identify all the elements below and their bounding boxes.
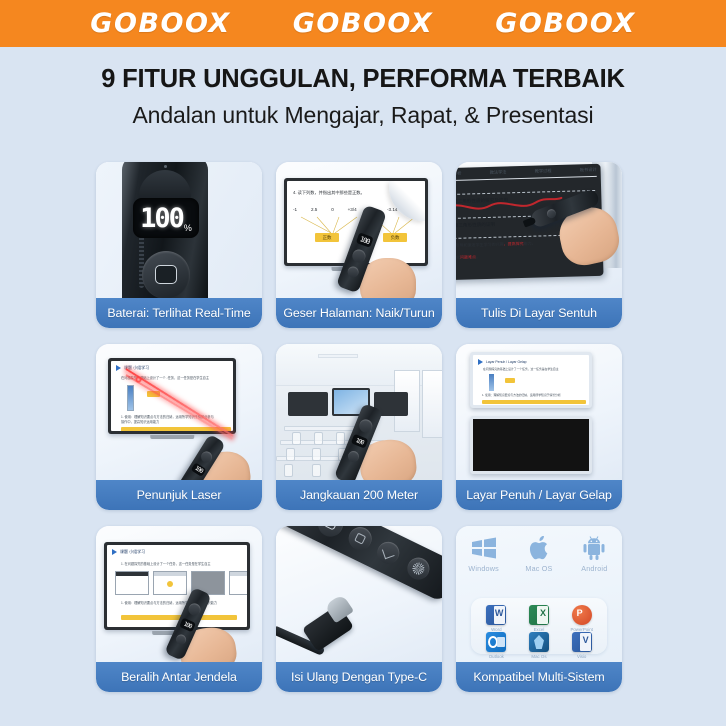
device-button-up (351, 248, 368, 265)
device-display: 100 (351, 434, 369, 449)
battery-illustration: 100 % (96, 162, 262, 298)
battery-value: 100 (140, 205, 183, 232)
battery-display: 100 % (133, 198, 199, 238)
slide-header: 课题 小组学习 (116, 365, 149, 371)
macos-app-icon (529, 632, 549, 652)
device-button-up (187, 601, 203, 617)
device-button-2 (345, 526, 376, 554)
tag-positive: 正数 (315, 233, 339, 242)
play-icon (112, 549, 117, 555)
window-thumb-4[interactable] (229, 571, 247, 595)
os-macos-label: Mac OS (515, 564, 563, 573)
play-icon (116, 365, 121, 371)
app-word[interactable]: W Word (475, 605, 518, 632)
presenter-body: 100 % (122, 162, 208, 298)
mic-dot (164, 165, 167, 168)
tv-display-on: Layar Penuh / Layar Gelap 在问题探究的基础上设计了一个… (470, 352, 592, 408)
excel-icon: X (529, 605, 549, 625)
play-icon (478, 359, 483, 365)
hand (360, 258, 416, 298)
brand-logo-2: GOBOOX (293, 8, 433, 39)
touch-write-illustration: 教材分析 教法学法 教学过程 板书设计 点 等腰三角形性质的探究及应用 (456, 162, 622, 298)
tv-screen-on: Layar Penuh / Layar Gelap 在问题探究的基础上设计了一个… (473, 355, 589, 405)
app-compatibility-panel: W Word X Excel P (471, 598, 607, 654)
device-button-down (346, 449, 360, 463)
caption-multi-system: Kompatibel Multi-Sistem (456, 662, 622, 692)
app-visio[interactable]: V Visio (560, 632, 603, 659)
blank-screen-illustration: Layar Penuh / Layar Gelap 在问题探究的基础上设计了一个… (456, 344, 622, 480)
feature-card-battery[interactable]: 100 % Baterai: Terlihat Real-Time (96, 162, 262, 328)
slide-title: 课题 小组学习 (120, 549, 145, 555)
os-android-label: Android (570, 564, 618, 573)
tv-display-off (470, 416, 592, 474)
os-logo-row: Windows Mac OS (456, 536, 622, 573)
presenter-device-closeup: 100 (276, 526, 442, 603)
feature-card-page-turn[interactable]: 4. 读下列数，并指出其中那些是正数。 -1 2.5 0 +3/4 2 -3.1… (276, 162, 442, 328)
device-button-main (314, 526, 347, 541)
caption-battery: Baterai: Terlihat Real-Time (96, 298, 262, 328)
feature-grid: 100 % Baterai: Terlihat Real-Time 4. 读下列… (96, 162, 642, 692)
multi-system-illustration: Windows Mac OS (456, 526, 622, 662)
brand-bar: GOBOOX GOBOOX GOBOOX (0, 0, 726, 47)
feature-card-type-c[interactable]: 100 Isi Ula (276, 526, 442, 692)
visio-icon: V (572, 632, 592, 652)
outlook-label: Outlook (475, 654, 518, 659)
caption-blank-screen: Layar Penuh / Layar Gelap (456, 480, 622, 510)
page-turn-illustration: 4. 读下列数，并指出其中那些是正数。 -1 2.5 0 +3/4 2 -3.1… (276, 162, 442, 298)
caption-page-turn: Geser Halaman: Naik/Turun (276, 298, 442, 328)
windows-icon (471, 536, 497, 560)
main-button-square (155, 265, 177, 284)
app-powerpoint[interactable]: P PowerPoint (560, 605, 603, 632)
tv-screen: 课题 小组学习 1. 在问题探究的基础上设计了一个任务，这一任务是在学生自主 (107, 545, 247, 627)
caption-touch-write: Tulis Di Layar Sentuh (456, 298, 622, 328)
feature-card-multi-system[interactable]: Windows Mac OS (456, 526, 622, 692)
os-windows-label: Windows (460, 564, 508, 573)
window-thumb-1[interactable] (115, 571, 149, 595)
app-macos[interactable]: Mac Os (518, 632, 561, 659)
page-subtitle: Andalan untuk Mengajar, Rapat, & Present… (0, 102, 726, 129)
main-button-ring (142, 251, 190, 298)
window-thumb-2[interactable] (153, 571, 187, 595)
caption-range: Jangkauan 200 Meter (276, 480, 442, 510)
device-button-up (357, 417, 374, 434)
type-c-illustration: 100 (276, 526, 442, 662)
brand-logo-1: GOBOOX (90, 8, 230, 39)
tv-display: 课题 小组学习 1. 在问题探究的基础上设计了一个任务，这一任务是在学生自主 (104, 542, 250, 630)
app-excel[interactable]: X Excel (518, 605, 561, 632)
slide-title: Layar Penuh / Layar Gelap (486, 360, 527, 364)
headline-block: 9 FITUR UNGGULAN, PERFORMA TERBAIK Andal… (0, 47, 726, 129)
macos-app-label: Mac Os (518, 654, 561, 659)
feature-card-window-switch[interactable]: 课题 小组学习 1. 在问题探究的基础上设计了一个任务，这一任务是在学生自主 (96, 526, 262, 692)
device-display: 100 (191, 462, 207, 477)
promo-page: GOBOOX GOBOOX GOBOOX 9 FITUR UNGGULAN, P… (0, 0, 726, 726)
device-button (199, 449, 214, 464)
feature-card-blank-screen[interactable]: Layar Penuh / Layar Gelap 在问题探究的基础上设计了一个… (456, 344, 622, 510)
os-macos: Mac OS (515, 536, 563, 573)
os-android: Android (570, 536, 618, 573)
app-outlook[interactable]: Outlook (475, 632, 518, 659)
whiteboard-screen: 教材分析 教法学法 教学过程 板书设计 点 等腰三角形性质的探究及应用 (456, 168, 597, 172)
visio-label: Visio (560, 654, 603, 659)
caption-laser: Penunjuk Laser (96, 480, 262, 510)
word-icon: W (486, 605, 506, 625)
outlook-icon (486, 632, 506, 652)
feature-card-laser[interactable]: 课题 小组学习 在问题探究的基础上设计了一个 -任务，这一任务是在学生自主 1.… (96, 344, 262, 510)
brand-logo-3: GOBOOX (495, 8, 635, 39)
powerpoint-icon: P (572, 605, 592, 625)
feature-card-range[interactable]: 100 Jangkauan 200 Meter (276, 344, 442, 510)
caption-type-c: Isi Ulang Dengan Type-C (276, 662, 442, 692)
page-title: 9 FITUR UNGGULAN, PERFORMA TERBAIK (0, 65, 726, 93)
device-display: 100 (179, 617, 196, 632)
device-button-4 (404, 554, 433, 583)
stylus-button (546, 208, 558, 220)
feature-card-touch-write[interactable]: 教材分析 教法学法 教学过程 板书设计 点 等腰三角形性质的探究及应用 (456, 162, 622, 328)
tag-negative: 负数 (383, 233, 407, 242)
slide-header: Layar Penuh / Layar Gelap (478, 359, 527, 365)
window-switch-illustration: 课题 小组学习 1. 在问题探究的基础上设计了一个任务，这一任务是在学生自主 (96, 526, 262, 662)
laser-illustration: 课题 小组学习 在问题探究的基础上设计了一个 -任务，这一任务是在学生自主 1.… (96, 344, 262, 480)
battery-unit: % (184, 223, 192, 233)
caption-window-switch: Beralih Antar Jendela (96, 662, 262, 692)
tv-stand (150, 435, 194, 439)
slide-header: 课题 小组学习 (112, 549, 145, 555)
os-windows: Windows (460, 536, 508, 573)
device-button-down (346, 265, 360, 279)
range-illustration: 100 (276, 344, 442, 480)
android-icon (581, 536, 607, 560)
device-button-3 (374, 538, 403, 567)
device-button-down (174, 633, 187, 646)
apple-icon (526, 536, 552, 560)
device-display: 100 (356, 232, 374, 247)
